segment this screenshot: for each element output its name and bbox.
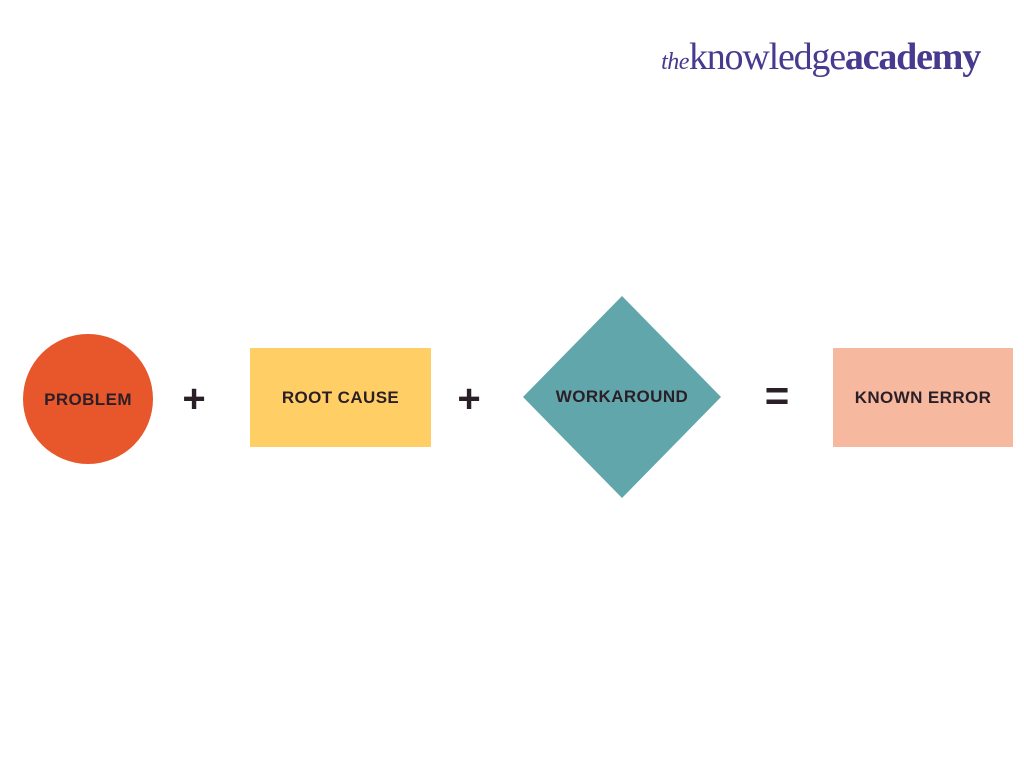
node-known-error-label: KNOWN ERROR	[855, 389, 992, 406]
operator-equals: =	[757, 375, 797, 417]
operator-plus-1: +	[174, 379, 214, 419]
operator-plus-2: +	[449, 379, 489, 419]
node-root-cause-label: ROOT CAUSE	[282, 389, 399, 406]
node-workaround: WORKAROUND	[523, 296, 721, 498]
node-problem: PROBLEM	[23, 334, 153, 464]
node-problem-label: PROBLEM	[44, 391, 132, 408]
node-workaround-label: WORKAROUND	[511, 388, 733, 405]
node-root-cause: ROOT CAUSE	[250, 348, 431, 447]
node-known-error: KNOWN ERROR	[833, 348, 1013, 447]
diagram-canvas: theknowledgeacademy PROBLEM + ROOT CAUSE…	[0, 0, 1024, 768]
equation-diagram: PROBLEM + ROOT CAUSE + WORKAROUND = KNOW…	[0, 0, 1024, 768]
